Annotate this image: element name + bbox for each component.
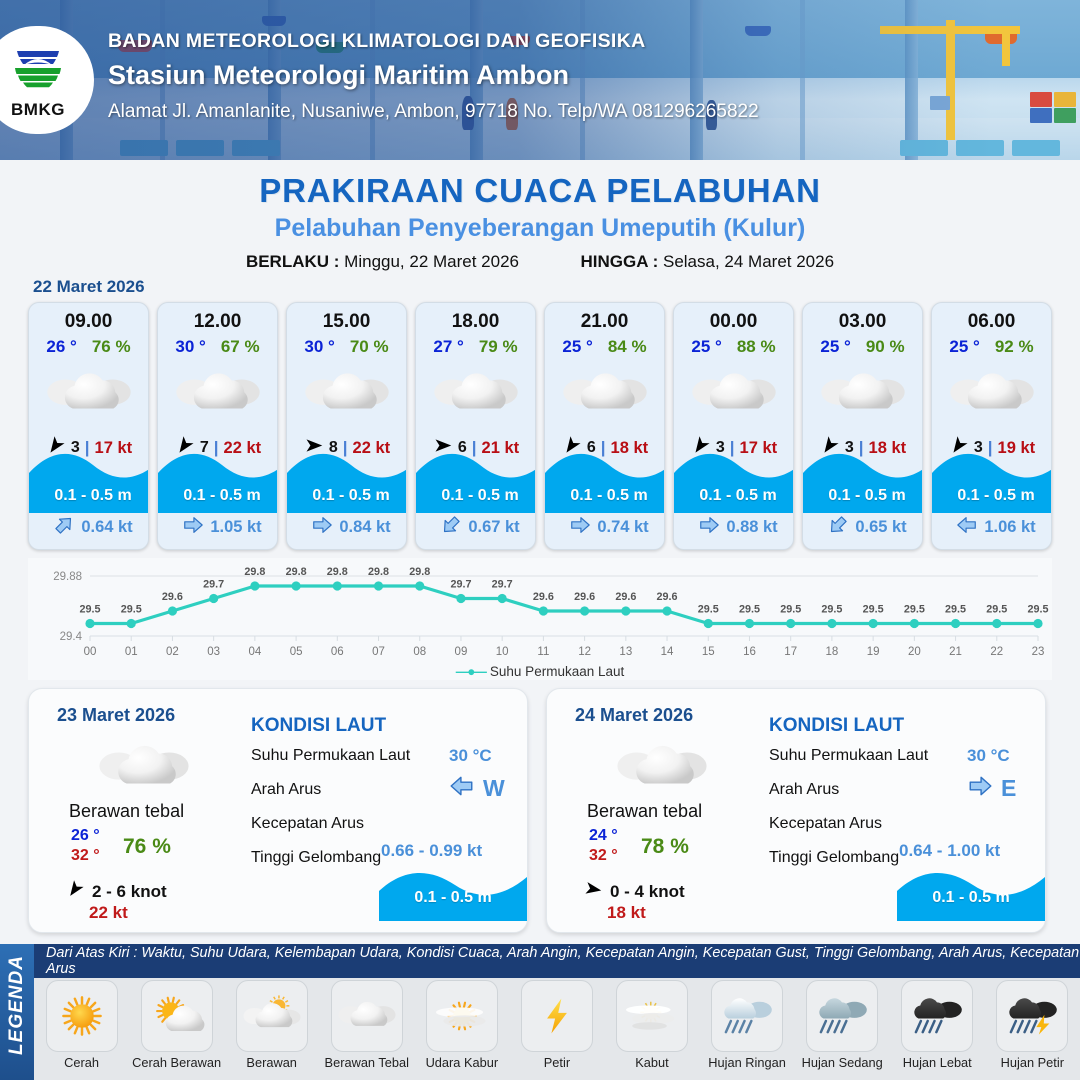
svg-text:29.8: 29.8 <box>327 566 348 578</box>
svg-text:01: 01 <box>125 646 138 658</box>
daily-panel: 24 Maret 2026 Berawan tebal 24 ° 32 ° 78… <box>546 688 1046 933</box>
legenda-item: Hujan Petir <box>987 980 1077 1070</box>
card-temperature: 30 ° <box>304 337 334 357</box>
card-time: 18.00 <box>416 311 535 333</box>
card-current-row: 0.88 kt <box>674 514 794 541</box>
card-current-row: 1.05 kt <box>158 514 278 541</box>
svg-text:15: 15 <box>702 646 715 658</box>
svg-text:29.5: 29.5 <box>780 604 801 616</box>
daily-wind-row: 2 - 6 knot <box>65 879 167 904</box>
card-current-speed: 0.64 kt <box>81 518 132 537</box>
card-temperature: 25 ° <box>691 337 721 357</box>
svg-text:16: 16 <box>743 646 756 658</box>
berawan-icon <box>236 980 308 1052</box>
daily-wind-range: 0 - 4 knot <box>610 882 685 902</box>
svg-text:06: 06 <box>331 646 344 658</box>
svg-text:29.88: 29.88 <box>53 571 82 583</box>
card-humidity: 67 % <box>221 337 260 357</box>
svg-text:29.4: 29.4 <box>60 631 83 643</box>
legenda-item: Cerah Berawan <box>132 980 222 1070</box>
bmkg-emblem-icon <box>7 41 69 99</box>
wind-direction-arrow-icon <box>65 879 85 904</box>
hujan-ringan-icon <box>711 980 783 1052</box>
hourly-card: 03.00 25 ° 90 % 3 | 18 kt 0.1 - 0.5 m <box>802 302 923 550</box>
current-direction-label: Arah Arus <box>251 781 321 799</box>
svg-text:13: 13 <box>619 646 632 658</box>
current-speed-value: 0.66 - 0.99 kt <box>381 841 482 861</box>
card-humidity: 88 % <box>737 337 776 357</box>
legenda-item: Cerah <box>37 980 127 1070</box>
svg-text:08: 08 <box>413 646 426 658</box>
card-temp-humidity: 30 ° 67 % <box>158 337 277 357</box>
card-temp-humidity: 26 ° 76 % <box>29 337 148 357</box>
svg-text:29.8: 29.8 <box>244 566 265 578</box>
chart-legend: —●—Suhu Permukaan Laut <box>0 664 1080 679</box>
card-current-speed: 0.74 kt <box>597 518 648 537</box>
hourly-card: 09.00 26 ° 76 % 3 | 17 kt 0.1 - 0.5 m <box>28 302 149 550</box>
daily-wave-value: 0.1 - 0.5 m <box>379 889 527 907</box>
legenda-note-bar: Dari Atas Kiri : Waktu, Suhu Udara, Kele… <box>34 944 1080 978</box>
card-humidity: 90 % <box>866 337 905 357</box>
svg-text:29.5: 29.5 <box>945 604 966 616</box>
card-wave-height: 0.1 - 0.5 m <box>29 487 149 505</box>
card-humidity: 70 % <box>350 337 389 357</box>
berawan-tebal-icon <box>287 363 406 425</box>
berawan-tebal-icon <box>607 737 717 799</box>
card-current-row: 0.67 kt <box>416 514 536 541</box>
daily-gust: 22 kt <box>89 903 128 923</box>
svg-text:29.8: 29.8 <box>409 566 430 578</box>
daily-temp-min: 24 ° <box>589 827 618 845</box>
card-time: 15.00 <box>287 311 406 333</box>
card-time: 09.00 <box>29 311 148 333</box>
valid-from-label: BERLAKU : <box>246 252 340 271</box>
current-direction-arrow-icon <box>311 514 333 541</box>
page-title: PRAKIRAAN CUACA PELABUHAN <box>0 172 1080 210</box>
daily-temp-max: 32 ° <box>71 847 100 865</box>
hourly-card: 06.00 25 ° 92 % 3 | 19 kt 0.1 - 0.5 m <box>931 302 1052 550</box>
svg-text:09: 09 <box>455 646 468 658</box>
card-current-row: 0.64 kt <box>29 514 149 541</box>
daily-wind-row: 0 - 4 knot <box>583 879 685 904</box>
legenda-item: Petir <box>512 980 602 1070</box>
legenda-item: Udara Kabur <box>417 980 507 1070</box>
svg-text:20: 20 <box>908 646 921 658</box>
svg-text:19: 19 <box>867 646 880 658</box>
daily-wave-value: 0.1 - 0.5 m <box>897 889 1045 907</box>
berawan-tebal-icon <box>158 363 277 425</box>
svg-text:04: 04 <box>248 646 261 658</box>
daily-condition: Berawan tebal <box>69 801 184 822</box>
wind-direction-arrow-icon <box>583 879 603 904</box>
hujan-sedang-icon <box>806 980 878 1052</box>
valid-from-value: Minggu, 22 Maret 2026 <box>344 252 519 271</box>
chart-legend-label: Suhu Permukaan Laut <box>490 664 624 679</box>
card-wave-height: 0.1 - 0.5 m <box>932 487 1052 505</box>
berawan-tebal-icon <box>803 363 922 425</box>
card-temperature: 26 ° <box>46 337 76 357</box>
berawan-tebal-icon <box>674 363 793 425</box>
current-direction-value-row: W <box>449 773 505 804</box>
current-direction-arrow-icon <box>449 773 475 804</box>
svg-text:02: 02 <box>166 646 179 658</box>
card-wave-height: 0.1 - 0.5 m <box>158 487 278 505</box>
card-current-speed: 0.88 kt <box>726 518 777 537</box>
svg-text:29.6: 29.6 <box>657 591 678 603</box>
card-temp-humidity: 25 ° 92 % <box>932 337 1051 357</box>
current-direction-arrow-icon <box>569 514 591 541</box>
legenda-item-label: Hujan Ringan <box>702 1055 792 1070</box>
berawan-tebal-icon <box>331 980 403 1052</box>
svg-text:11: 11 <box>537 646 549 658</box>
current-speed-label: Kecepatan Arus <box>251 815 364 833</box>
card-temperature: 25 ° <box>820 337 850 357</box>
valid-until-label: HINGGA : <box>580 252 658 271</box>
daily-wind-range: 2 - 6 knot <box>92 882 167 902</box>
legenda-item-label: Cerah <box>37 1055 127 1070</box>
svg-text:29.5: 29.5 <box>904 604 925 616</box>
current-direction-arrow-icon <box>698 514 720 541</box>
hourly-card: 18.00 27 ° 79 % 6 | 21 kt 0.1 - 0.5 m <box>415 302 536 550</box>
daily-date: 24 Maret 2026 <box>575 705 693 726</box>
legend-marker-icon: —●— <box>456 664 485 679</box>
legenda-item: Berawan Tebal <box>322 980 412 1070</box>
card-wave-height: 0.1 - 0.5 m <box>416 487 536 505</box>
legenda-item-label: Hujan Lebat <box>892 1055 982 1070</box>
card-current-speed: 1.06 kt <box>984 518 1035 537</box>
agency-name: BADAN METEOROLOGI KLIMATOLOGI DAN GEOFIS… <box>108 30 759 53</box>
legenda-item-label: Kabut <box>607 1055 697 1070</box>
svg-text:29.5: 29.5 <box>821 604 842 616</box>
svg-text:22: 22 <box>990 646 1003 658</box>
card-current-speed: 0.67 kt <box>468 518 519 537</box>
card-time: 03.00 <box>803 311 922 333</box>
header-text-block: BADAN METEOROLOGI KLIMATOLOGI DAN GEOFIS… <box>108 30 759 123</box>
hourly-forecast-row: 09.00 26 ° 76 % 3 | 17 kt 0.1 - 0.5 m <box>28 302 1052 550</box>
daily-temperatures: 26 ° 32 ° <box>71 827 100 865</box>
legenda-note: Dari Atas Kiri : Waktu, Suhu Udara, Kele… <box>34 945 1080 977</box>
current-direction-label: Arah Arus <box>769 781 839 799</box>
card-time: 06.00 <box>932 311 1051 333</box>
card-temperature: 27 ° <box>433 337 463 357</box>
legenda-item-label: Petir <box>512 1055 602 1070</box>
legenda-item: Berawan <box>227 980 317 1070</box>
hourly-card: 21.00 25 ° 84 % 6 | 18 kt 0.1 - 0.5 m <box>544 302 665 550</box>
card-time: 12.00 <box>158 311 277 333</box>
sst-label: Suhu Permukaan Laut <box>251 747 410 765</box>
current-direction-arrow-icon <box>967 773 993 804</box>
legenda-side-tab: LEGENDA <box>0 944 34 1080</box>
daily-panel: 23 Maret 2026 Berawan tebal 26 ° 32 ° 76… <box>28 688 528 933</box>
legenda-section: LEGENDA Dari Atas Kiri : Waktu, Suhu Uda… <box>0 944 1080 1080</box>
card-current-row: 0.65 kt <box>803 514 923 541</box>
berawan-tebal-icon <box>932 363 1051 425</box>
card-time: 21.00 <box>545 311 664 333</box>
legenda-item: Hujan Lebat <box>892 980 982 1070</box>
legenda-item: Hujan Ringan <box>702 980 792 1070</box>
current-direction-arrow-icon <box>956 514 978 541</box>
svg-text:29.5: 29.5 <box>1027 604 1048 616</box>
current-direction-arrow-icon <box>827 514 849 541</box>
daily-temperatures: 24 ° 32 ° <box>589 827 618 865</box>
hourly-card: 12.00 30 ° 67 % 7 | 22 kt 0.1 - 0.5 m <box>157 302 278 550</box>
legenda-item: Hujan Sedang <box>797 980 887 1070</box>
card-temp-humidity: 25 ° 84 % <box>545 337 664 357</box>
wave-height-label: Tinggi Gelombang <box>251 849 381 867</box>
card-current-speed: 1.05 kt <box>210 518 261 537</box>
svg-text:17: 17 <box>784 646 797 658</box>
current-speed-label: Kecepatan Arus <box>769 815 882 833</box>
kabut-icon <box>616 980 688 1052</box>
validity-row: BERLAKU : Minggu, 22 Maret 2026 HINGGA :… <box>0 252 1080 272</box>
svg-text:29.6: 29.6 <box>533 591 554 603</box>
sea-conditions-title: KONDISI LAUT <box>769 715 904 737</box>
card-temperature: 30 ° <box>175 337 205 357</box>
card-current-speed: 0.65 kt <box>855 518 906 537</box>
daily-gust: 18 kt <box>607 903 646 923</box>
card-humidity: 79 % <box>479 337 518 357</box>
svg-text:29.8: 29.8 <box>286 566 307 578</box>
berawan-tebal-icon <box>29 363 148 425</box>
card-wave-height: 0.1 - 0.5 m <box>287 487 407 505</box>
hujan-petir-icon <box>996 980 1068 1052</box>
card-humidity: 76 % <box>92 337 131 357</box>
valid-until-value: Selasa, 24 Maret 2026 <box>663 252 834 271</box>
card-temp-humidity: 25 ° 90 % <box>803 337 922 357</box>
daily-temp-max: 32 ° <box>589 847 618 865</box>
svg-text:14: 14 <box>661 646 674 658</box>
svg-text:29.5: 29.5 <box>698 604 719 616</box>
legenda-item-label: Cerah Berawan <box>132 1055 222 1070</box>
svg-text:29.5: 29.5 <box>863 604 884 616</box>
svg-text:29.7: 29.7 <box>203 579 224 591</box>
station-address: Alamat Jl. Amanlanite, Nusaniwe, Ambon, … <box>108 101 759 123</box>
page-subtitle: Pelabuhan Penyeberangan Umeputih (Kulur) <box>0 214 1080 243</box>
card-wave-height: 0.1 - 0.5 m <box>545 487 665 505</box>
card-current-row: 0.74 kt <box>545 514 665 541</box>
card-humidity: 84 % <box>608 337 647 357</box>
cerah-icon <box>46 980 118 1052</box>
current-direction-arrow-icon <box>53 514 75 541</box>
legenda-item-label: Udara Kabur <box>417 1055 507 1070</box>
svg-text:10: 10 <box>496 646 509 658</box>
sea-conditions-title: KONDISI LAUT <box>251 715 386 737</box>
hourly-card: 15.00 30 ° 70 % 8 | 22 kt 0.1 - 0.5 m <box>286 302 407 550</box>
current-speed-value: 0.64 - 1.00 kt <box>899 841 1000 861</box>
legenda-items: Cerah Cerah Berawan Berawan <box>34 980 1080 1080</box>
page-header: BMKG BADAN METEOROLOGI KLIMATOLOGI DAN G… <box>0 0 1080 160</box>
card-time: 00.00 <box>674 311 793 333</box>
current-direction-arrow-icon <box>440 514 462 541</box>
cerah-berawan-icon <box>141 980 213 1052</box>
sst-chart: 29.8829.429.50029.50129.60229.70329.8042… <box>28 558 1052 680</box>
svg-text:03: 03 <box>207 646 220 658</box>
bmkg-logo-text: BMKG <box>11 100 65 120</box>
daily-temp-min: 26 ° <box>71 827 100 845</box>
svg-text:29.6: 29.6 <box>615 591 636 603</box>
legenda-side-label: LEGENDA <box>6 955 28 1055</box>
udara-kabur-icon <box>426 980 498 1052</box>
card-wave-height: 0.1 - 0.5 m <box>674 487 794 505</box>
legenda-item-label: Hujan Sedang <box>797 1055 887 1070</box>
card-wave-height: 0.1 - 0.5 m <box>803 487 923 505</box>
svg-text:12: 12 <box>578 646 591 658</box>
card-temp-humidity: 25 ° 88 % <box>674 337 793 357</box>
berawan-tebal-icon <box>416 363 535 425</box>
svg-text:21: 21 <box>949 646 962 658</box>
card-humidity: 92 % <box>995 337 1034 357</box>
sst-value: 30 °C <box>449 746 492 766</box>
card-temp-humidity: 30 ° 70 % <box>287 337 406 357</box>
svg-text:29.5: 29.5 <box>121 604 142 616</box>
hourly-date: 22 Maret 2026 <box>33 277 145 297</box>
station-name: Stasiun Meteorologi Maritim Ambon <box>108 60 759 91</box>
current-direction-value-row: E <box>967 773 1016 804</box>
svg-text:29.6: 29.6 <box>162 591 183 603</box>
card-temperature: 25 ° <box>562 337 592 357</box>
svg-text:29.5: 29.5 <box>79 604 100 616</box>
svg-text:29.8: 29.8 <box>368 566 389 578</box>
current-direction-value: E <box>1001 775 1016 802</box>
svg-text:29.7: 29.7 <box>492 579 513 591</box>
hujan-lebat-icon <box>901 980 973 1052</box>
wave-height-label: Tinggi Gelombang <box>769 849 899 867</box>
svg-text:18: 18 <box>826 646 839 658</box>
svg-text:05: 05 <box>290 646 303 658</box>
legenda-item: Kabut <box>607 980 697 1070</box>
berawan-tebal-icon <box>89 737 199 799</box>
petir-icon <box>521 980 593 1052</box>
daily-humidity: 76 % <box>123 835 171 859</box>
card-current-row: 0.84 kt <box>287 514 407 541</box>
sst-value: 30 °C <box>967 746 1010 766</box>
current-direction-value: W <box>483 775 505 802</box>
svg-text:00: 00 <box>84 646 97 658</box>
legenda-item-label: Berawan Tebal <box>322 1055 412 1070</box>
daily-date: 23 Maret 2026 <box>57 705 175 726</box>
sst-label: Suhu Permukaan Laut <box>769 747 928 765</box>
svg-text:29.7: 29.7 <box>450 579 471 591</box>
daily-humidity: 78 % <box>641 835 689 859</box>
legenda-item-label: Hujan Petir <box>987 1055 1077 1070</box>
card-temp-humidity: 27 ° 79 % <box>416 337 535 357</box>
svg-text:29.5: 29.5 <box>986 604 1007 616</box>
svg-text:23: 23 <box>1032 646 1045 658</box>
card-current-speed: 0.84 kt <box>339 518 390 537</box>
hourly-card: 00.00 25 ° 88 % 3 | 17 kt 0.1 - 0.5 m <box>673 302 794 550</box>
legenda-item-label: Berawan <box>227 1055 317 1070</box>
card-temperature: 25 ° <box>949 337 979 357</box>
daily-condition: Berawan tebal <box>587 801 702 822</box>
berawan-tebal-icon <box>545 363 664 425</box>
current-direction-arrow-icon <box>182 514 204 541</box>
card-current-row: 1.06 kt <box>932 514 1052 541</box>
svg-text:29.5: 29.5 <box>739 604 760 616</box>
svg-text:29.6: 29.6 <box>574 591 595 603</box>
svg-text:07: 07 <box>372 646 385 658</box>
